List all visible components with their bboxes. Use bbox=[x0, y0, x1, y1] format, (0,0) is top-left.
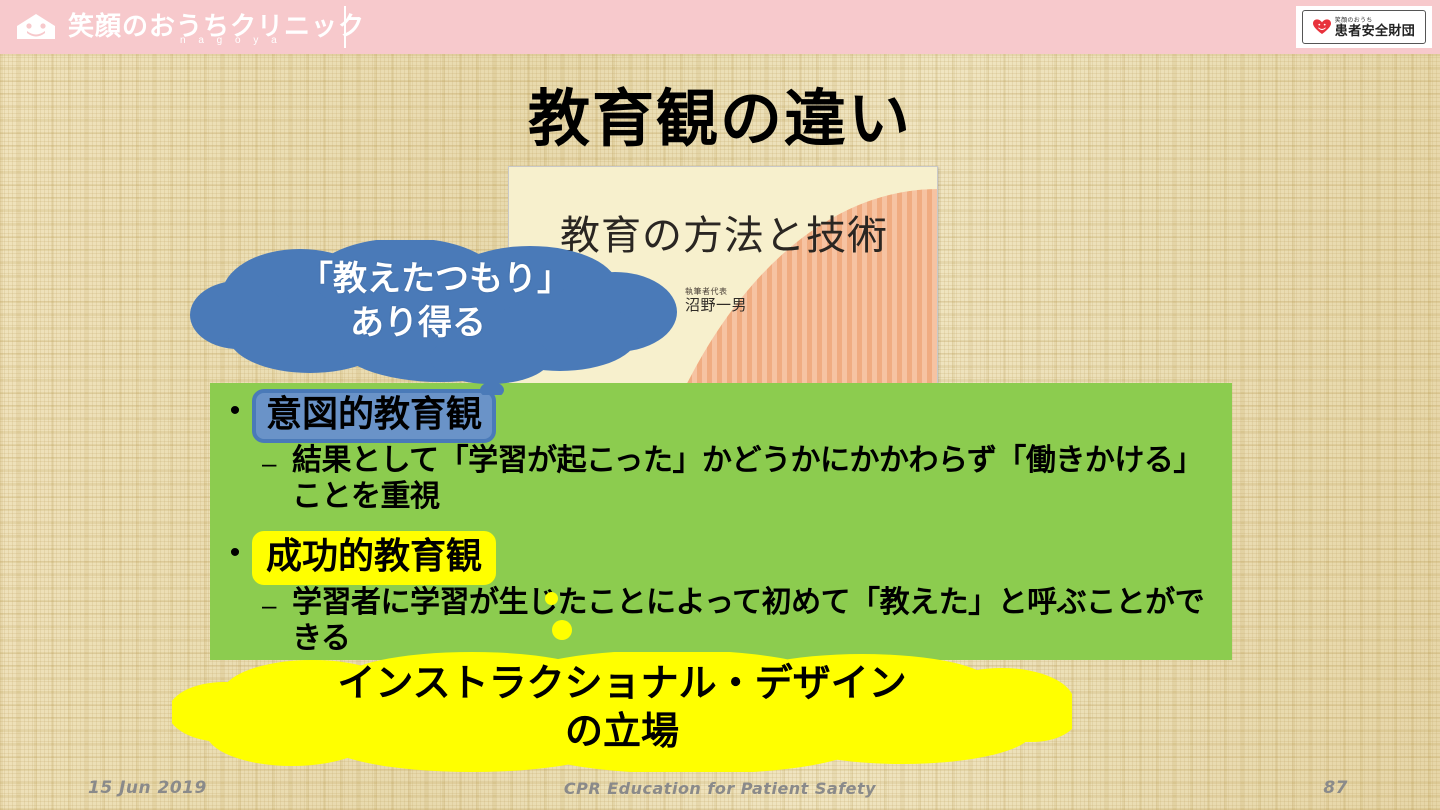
house-smile-icon bbox=[14, 12, 58, 42]
yellow-callout-cloud: インストラクショナル・デザイン の立場 bbox=[172, 652, 1072, 772]
slide-canvas: 教育の方法と技術 執筆者代表 沼野一男 教育観の違い • 意図的教育観 – 結果… bbox=[0, 0, 1440, 810]
sub-item-1: – 結果として「学習が起こった」かどうかにかかわらず「働きかける」ことを重視 bbox=[210, 443, 1222, 515]
blue-cloud-line2: あり得る bbox=[190, 302, 680, 346]
yellow-tail-dot-small bbox=[545, 592, 558, 605]
dash-glyph: – bbox=[262, 443, 292, 483]
footer-page-number: 87 bbox=[1323, 778, 1348, 798]
book-cover-author-block: 執筆者代表 沼野一男 bbox=[685, 287, 747, 316]
patient-safety-foundation-logo[interactable]: 笑顔のおうち 患者安全財団 bbox=[1296, 6, 1432, 48]
foundation-name: 患者安全財団 bbox=[1335, 24, 1415, 37]
yellow-tail-dot-large bbox=[552, 620, 572, 640]
bullet-glyph: • bbox=[218, 531, 252, 575]
heading-pill-successful: 成功的教育観 bbox=[252, 531, 496, 585]
bullet-glyph: • bbox=[218, 389, 252, 433]
header-band: 笑顔のおうちクリニック n a g o y a 笑顔のおうち 患者安全財団 bbox=[0, 0, 1440, 54]
content-panel: • 意図的教育観 – 結果として「学習が起こった」かどうかにかかわらず「働きかけ… bbox=[210, 383, 1232, 660]
dash-glyph: – bbox=[262, 585, 292, 625]
clinic-brand-subtitle: n a g o y a bbox=[180, 35, 282, 46]
book-author-label: 執筆者代表 bbox=[685, 287, 747, 297]
foundation-text-block: 笑顔のおうち 患者安全財団 bbox=[1335, 18, 1415, 37]
blue-cloud-line1: 「教えたつもり」 bbox=[190, 258, 680, 302]
heading-pill-intentional: 意図的教育観 bbox=[252, 389, 496, 443]
bullet-item-1: • 意図的教育観 bbox=[218, 389, 496, 443]
sub-item-2-text: 学習者に学習が生じたことによって初めて「教えた」と呼ぶことができる bbox=[292, 585, 1222, 657]
header-divider bbox=[344, 6, 346, 48]
foundation-logo-frame: 笑顔のおうち 患者安全財団 bbox=[1302, 10, 1426, 44]
sub-item-1-text: 結果として「学習が起こった」かどうかにかかわらず「働きかける」ことを重視 bbox=[292, 443, 1222, 515]
yellow-cloud-line1: インストラクショナル・デザイン bbox=[172, 660, 1072, 708]
blue-thought-cloud: 「教えたつもり」 あり得る bbox=[190, 240, 680, 395]
bullet-item-2: • 成功的教育観 bbox=[218, 531, 496, 585]
yellow-cloud-line2: の立場 bbox=[172, 708, 1072, 756]
heart-smile-icon bbox=[1313, 19, 1331, 35]
footer-title: CPR Education for Patient Safety bbox=[0, 779, 1440, 798]
yellow-cloud-text: インストラクショナル・デザイン の立場 bbox=[172, 660, 1072, 755]
blue-cloud-text: 「教えたつもり」 あり得る bbox=[190, 258, 680, 345]
sub-item-2: – 学習者に学習が生じたことによって初めて「教えた」と呼ぶことができる bbox=[210, 585, 1222, 657]
book-author-name: 沼野一男 bbox=[685, 297, 747, 316]
slide-title: 教育観の違い bbox=[0, 68, 1440, 158]
